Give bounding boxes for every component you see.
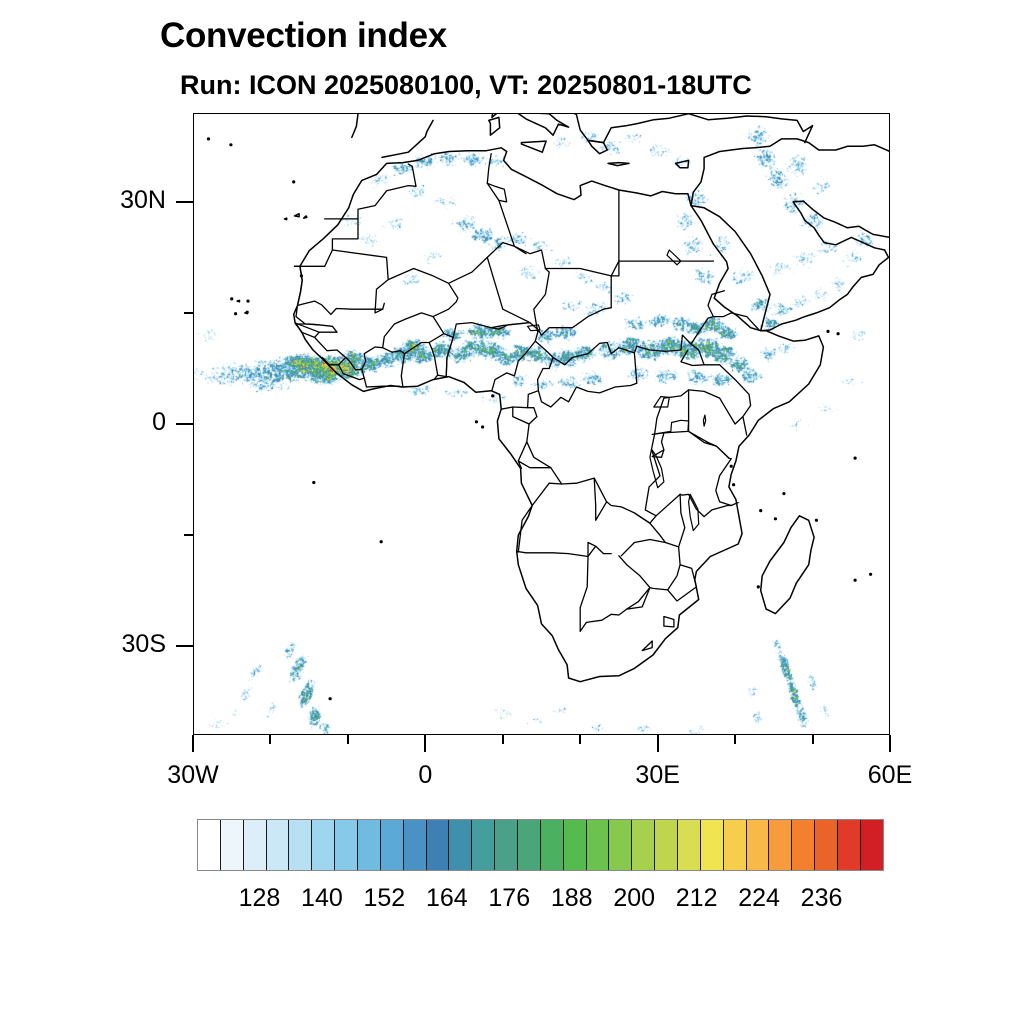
colorbar-block (815, 820, 838, 870)
map-plot-area (193, 113, 890, 735)
x-tick-label: 60E (868, 761, 912, 790)
map-line (538, 353, 637, 407)
colorbar-tick-label: 164 (426, 884, 468, 913)
colorbar-tick-label: 188 (551, 884, 593, 913)
map-line (237, 300, 239, 302)
colorbar-block (427, 820, 450, 870)
x-tick-minor (812, 735, 814, 744)
map-line (608, 163, 629, 166)
colorbar-block (358, 820, 381, 870)
colorbar-tick-label: 176 (488, 884, 530, 913)
map-line (611, 261, 713, 308)
map-island-marker (815, 519, 818, 522)
map-line (401, 343, 429, 388)
map-line (429, 334, 453, 377)
map-line (499, 200, 549, 272)
map-line (382, 120, 433, 157)
map-island-marker (292, 180, 295, 183)
map-island-marker (757, 585, 760, 588)
map-line (322, 357, 345, 364)
map-line (518, 483, 561, 552)
colorbar-tick-label: 140 (301, 884, 343, 913)
colorbar-block (792, 820, 815, 870)
colorbar-block (609, 820, 632, 870)
x-tick-label: 30W (167, 761, 218, 790)
x-tick-label: 0 (418, 761, 432, 790)
map-line (501, 407, 527, 409)
y-tick-minor (184, 534, 193, 536)
map-line (691, 139, 890, 206)
map-island-marker (207, 137, 210, 140)
map-island-marker (246, 311, 249, 314)
colorbar-block (381, 820, 404, 870)
colorbar-block (312, 820, 335, 870)
colorbar-block (335, 820, 358, 870)
x-tick-major (424, 735, 426, 752)
map-line (492, 323, 539, 391)
colorbar-block (267, 820, 290, 870)
map-line (433, 283, 458, 316)
colorbar-block (632, 820, 655, 870)
map-line (295, 266, 383, 314)
map-island-marker (854, 579, 857, 582)
map-line (284, 218, 286, 220)
colorbar-block (838, 820, 861, 870)
y-tick-major (176, 645, 193, 647)
map-line (352, 113, 813, 143)
map-coastlines-and-borders (193, 113, 890, 735)
map-line (487, 154, 499, 201)
colorbar-block (655, 820, 678, 870)
map-island-marker (481, 425, 484, 428)
map-line (521, 141, 546, 152)
map-line (652, 420, 688, 434)
figure-root: Convection index Run: ICON 2025080100, V… (0, 0, 1024, 1024)
colorbar-block (244, 820, 267, 870)
x-tick-minor (579, 735, 581, 744)
y-tick-major (176, 423, 193, 425)
colorbar-block (678, 820, 701, 870)
map-line (358, 164, 416, 219)
map-island-marker (774, 517, 777, 520)
map-line (704, 365, 751, 435)
map-line (667, 250, 681, 265)
colorbar-tick-label: 212 (676, 884, 718, 913)
map-island-marker (300, 274, 303, 277)
colorbar-tick-label: 152 (364, 884, 406, 913)
map-line (621, 540, 680, 590)
colorbar-block (769, 820, 792, 870)
map-island-marker (230, 297, 233, 300)
map-line (491, 323, 530, 330)
colorbar-block (747, 820, 770, 870)
map-line (489, 117, 500, 135)
map-line (383, 313, 444, 348)
x-tick-minor (734, 735, 736, 744)
map-line (487, 257, 530, 322)
map-line (453, 323, 530, 338)
map-line (634, 513, 665, 543)
map-line (642, 641, 652, 651)
map-island-marker (229, 143, 232, 146)
colorbar-tick-label: 200 (613, 884, 655, 913)
colorbar-block (587, 820, 610, 870)
colorbar-block (541, 820, 564, 870)
x-tick-minor (269, 735, 271, 744)
map-line (662, 433, 664, 450)
map-island-marker (837, 332, 840, 335)
map-line (545, 269, 611, 276)
colorbar-block (518, 820, 541, 870)
map-line (518, 442, 527, 469)
x-tick-minor (347, 735, 349, 744)
page-title: Convection index (160, 16, 447, 56)
map-line (703, 415, 705, 426)
map-line (388, 243, 514, 284)
map-line (534, 272, 549, 331)
map-island-marker (329, 697, 332, 700)
map-island-marker (854, 457, 857, 460)
colorbar-block (404, 820, 427, 870)
colorbar-tick-label: 224 (738, 884, 780, 913)
map-line (676, 160, 689, 167)
map-line (295, 214, 300, 217)
colorbar-block (449, 820, 472, 870)
map-line (538, 308, 611, 335)
y-tick-minor (184, 312, 193, 314)
colorbar-tick-label: 128 (239, 884, 281, 913)
map-line (689, 390, 732, 459)
y-tick-label: 30N (120, 186, 166, 215)
colorbar-block (861, 820, 883, 870)
map-line (689, 494, 699, 530)
colorbar-block (495, 820, 518, 870)
map-line (513, 407, 529, 424)
map-line (492, 113, 499, 117)
y-tick-label: 30S (122, 630, 166, 659)
map-line (429, 343, 438, 379)
map-line (656, 494, 682, 516)
map-line (517, 546, 612, 556)
map-island-marker (759, 509, 762, 512)
x-tick-label: 30E (635, 761, 679, 790)
map-island-marker (475, 420, 478, 423)
colorbar-tick-label: 236 (801, 884, 843, 913)
map-island-marker (869, 573, 872, 576)
map-island-marker (234, 312, 237, 315)
map-island-marker (730, 465, 733, 468)
map-line (446, 337, 453, 376)
map-line (689, 431, 729, 458)
page-subtitle: Run: ICON 2025080100, VT: 20250801-18UTC (180, 70, 752, 101)
map-line (332, 250, 388, 313)
map-island-marker (782, 492, 785, 495)
map-line (761, 516, 814, 614)
map-line (689, 390, 743, 424)
colorbar-block (289, 820, 312, 870)
x-tick-major (889, 735, 891, 752)
colorbar-block (701, 820, 724, 870)
colorbar-block (724, 820, 747, 870)
map-line (691, 313, 759, 344)
map-line (793, 201, 890, 237)
map-line (304, 216, 307, 218)
map-line (664, 617, 674, 627)
map-line (527, 391, 539, 442)
map-island-marker (246, 300, 249, 303)
colorbar-block (564, 820, 587, 870)
map-line (580, 556, 650, 632)
map-line (514, 246, 526, 253)
y-tick-label: 0 (152, 408, 166, 437)
map-island-marker (491, 394, 494, 397)
map-line (679, 494, 685, 547)
map-line (527, 390, 689, 523)
map-island-marker (732, 483, 735, 486)
colorbar-block (198, 820, 221, 870)
map-line (296, 306, 337, 333)
map-line (362, 347, 405, 369)
x-tick-major (657, 735, 659, 752)
map-island-marker (312, 481, 315, 484)
map-line (627, 588, 650, 610)
map-island-marker (826, 330, 829, 333)
colorbar-block (472, 820, 495, 870)
map-island-marker (380, 540, 383, 543)
x-tick-minor (502, 735, 504, 744)
map-line (535, 341, 637, 365)
colorbar (197, 819, 884, 871)
map-line (487, 183, 506, 202)
y-tick-major (176, 201, 193, 203)
x-tick-major (192, 735, 194, 752)
map-line (761, 202, 889, 331)
map-line (580, 557, 588, 631)
colorbar-block (221, 820, 244, 870)
